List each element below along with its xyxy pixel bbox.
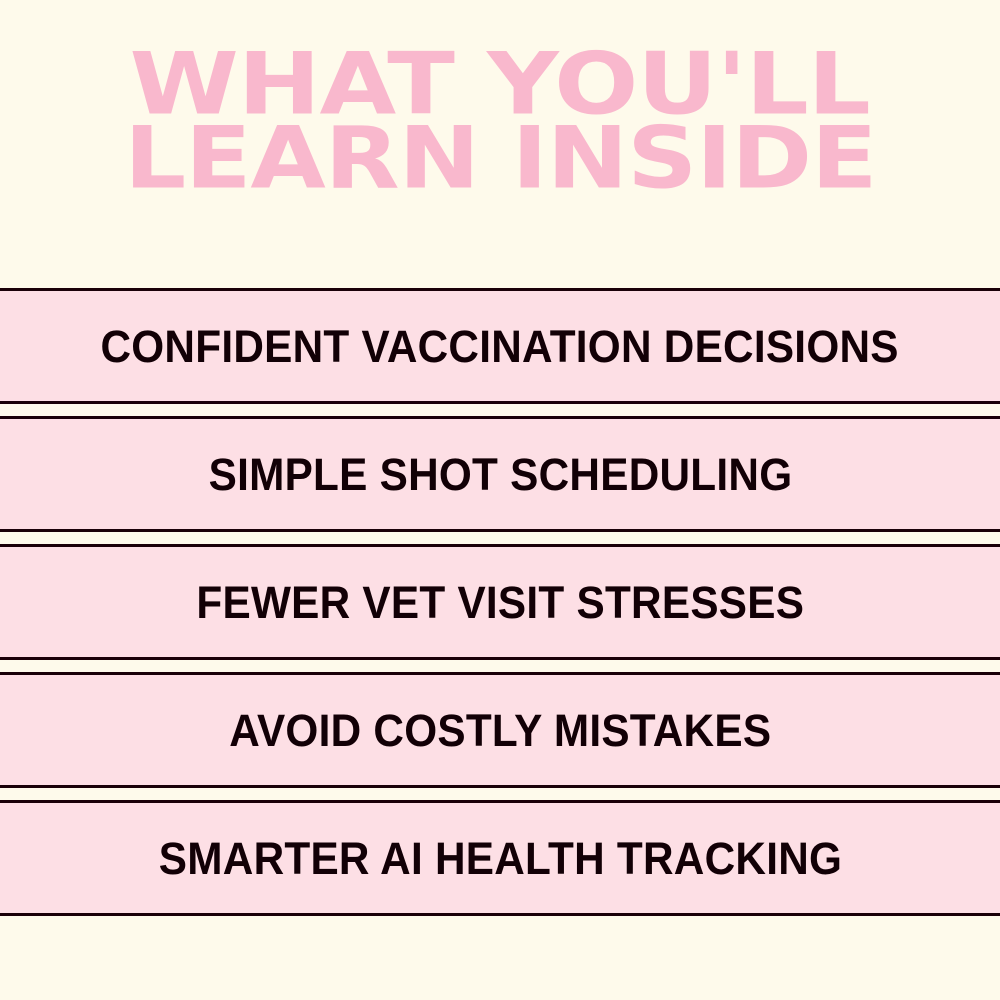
poster-footer-space	[0, 932, 1000, 1000]
benefit-label: SIMPLE SHOT SCHEDULING	[208, 452, 792, 497]
benefit-band-list: CONFIDENT VACCINATION DECISIONS SIMPLE S…	[0, 288, 1000, 916]
benefit-band: SIMPLE SHOT SCHEDULING	[0, 416, 1000, 532]
benefit-band: CONFIDENT VACCINATION DECISIONS	[0, 288, 1000, 404]
benefit-label: FEWER VET VISIT STRESSES	[196, 580, 804, 625]
poster-canvas: WHAT YOU'LL LEARN INSIDE CONFIDENT VACCI…	[0, 0, 1000, 1000]
benefit-band: FEWER VET VISIT STRESSES	[0, 544, 1000, 660]
benefit-label: SMARTER AI HEALTH TRACKING	[158, 836, 841, 881]
benefit-band: AVOID COSTLY MISTAKES	[0, 672, 1000, 788]
page-title-line-2: LEARN INSIDE	[124, 122, 876, 196]
benefit-label: CONFIDENT VACCINATION DECISIONS	[101, 324, 899, 369]
benefit-label: AVOID COSTLY MISTAKES	[229, 708, 771, 753]
benefit-band: SMARTER AI HEALTH TRACKING	[0, 800, 1000, 916]
poster-header: WHAT YOU'LL LEARN INSIDE	[0, 0, 1000, 288]
